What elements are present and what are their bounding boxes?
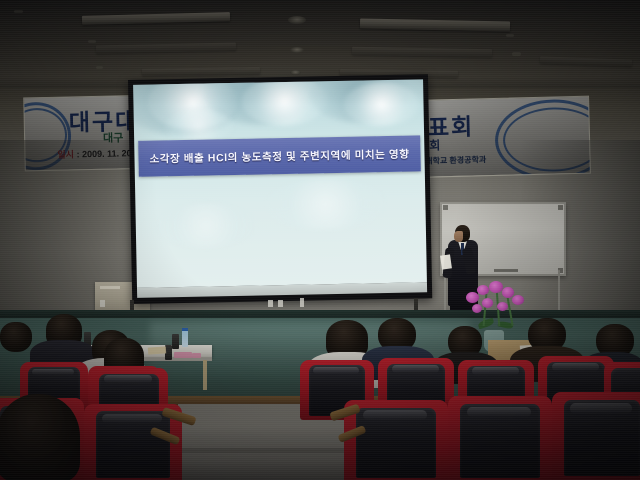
bottle-cap (182, 328, 188, 331)
audience-head (0, 322, 32, 352)
whiteboard-marker-tray (494, 269, 518, 272)
whiteboard-leg (558, 270, 560, 310)
seat-highlight (472, 367, 519, 374)
seat-highlight (570, 403, 632, 414)
ceiling-light-fixture (142, 67, 260, 76)
ceiling-detail (506, 34, 514, 37)
ceiling-detail (512, 52, 521, 56)
wall-outlet-icon (278, 300, 283, 307)
seat-highlight (313, 367, 359, 374)
ceiling-light-fixture (96, 43, 236, 54)
seat-highlight (467, 407, 531, 418)
presenter-face (454, 231, 463, 242)
orchid-blossom (477, 285, 489, 295)
pink-object (192, 353, 201, 358)
slide-cloud (265, 178, 386, 230)
table-papers (148, 346, 166, 354)
aisle-step (178, 448, 348, 453)
ceiling-vent-icon (288, 16, 306, 24)
orchid-blossom (482, 298, 493, 308)
ceiling-light-fixture (540, 56, 632, 66)
seat-highlight (392, 365, 439, 372)
orchid-blossom (489, 281, 503, 293)
ceiling-light-fixture (82, 12, 230, 25)
bottle (172, 334, 179, 349)
ceiling-detail (88, 40, 96, 43)
wall-outlet-icon (268, 300, 273, 307)
seat-highlight (102, 414, 163, 424)
orchid-blossom (466, 292, 479, 303)
slide-cloud (343, 81, 420, 126)
whiteboard-corner (558, 205, 563, 210)
pink-object (174, 352, 192, 358)
slide-title-text: 소각장 배출 HCl의 농도측정 및 주변지역에 미치는 영향 (149, 146, 409, 166)
orchid-blossom (497, 302, 508, 311)
presenter-papers (440, 254, 452, 269)
wall-outlet-icon (300, 298, 304, 307)
auditorium-seat (448, 396, 552, 480)
seat-highlight (32, 369, 74, 376)
auditorium-seat (344, 400, 448, 480)
slide-title-band: 소각장 배출 HCl의 농도측정 및 주변지역에 미치는 영향 (138, 135, 421, 176)
orchid-blossom (512, 295, 524, 305)
screen-surface: 소각장 배출 HCl의 농도측정 및 주변지역에 미치는 영향 (133, 79, 427, 288)
auditorium-seat (552, 392, 640, 480)
water-bottle (182, 330, 188, 347)
seat-highlight (363, 410, 427, 420)
ceiling-detail (96, 66, 103, 69)
photo-scene: 대구대 대구 일시 : 2009. 11. 20(금) 발표회 발표회 : 대구… (0, 0, 640, 480)
projection-screen: 소각장 배출 HCl의 농도측정 및 주변지역에 미치는 영향 (128, 74, 432, 304)
ceiling-vent-icon (290, 70, 301, 75)
table-leg (203, 360, 207, 390)
slide-cloud (155, 203, 256, 249)
ceiling-vent-icon (290, 47, 304, 53)
seat-highlight (552, 363, 599, 370)
ceiling-light-fixture (352, 47, 492, 57)
ceiling-detail (14, 10, 23, 13)
wall-outlet-icon (100, 300, 105, 307)
ceiling-light-fixture (360, 18, 510, 31)
whiteboard-corner (443, 205, 448, 210)
radiator-vent-icon (100, 286, 120, 289)
orchid-blossom (472, 304, 482, 313)
audience-head-foreground (0, 394, 80, 480)
seat-highlight (104, 375, 152, 382)
